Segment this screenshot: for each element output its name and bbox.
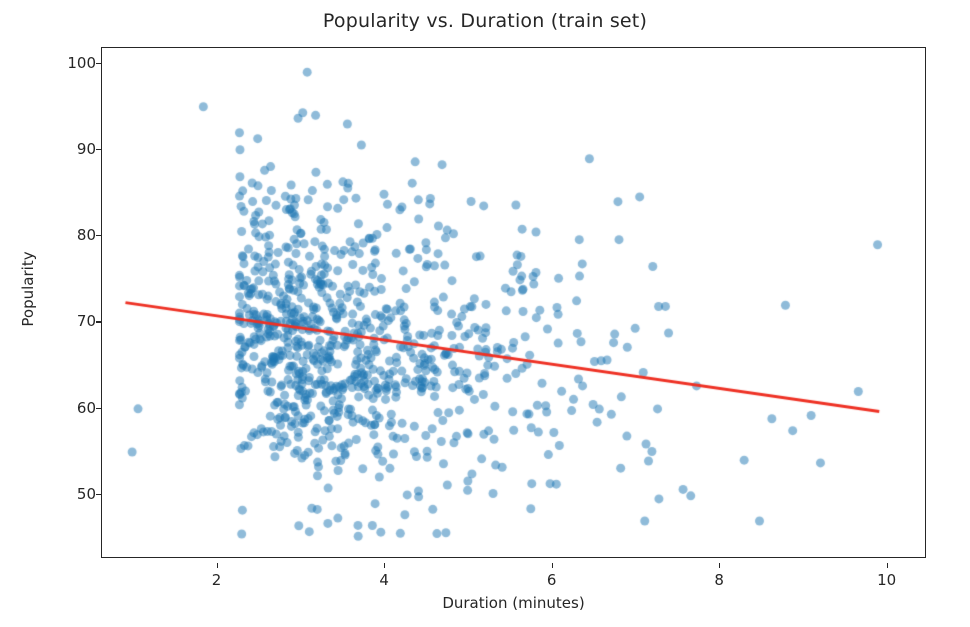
chart-title: Popularity vs. Duration (train set)	[0, 10, 970, 32]
plot-area	[101, 47, 926, 558]
y-tick-label: 100	[54, 54, 96, 72]
figure: Popularity vs. Duration (train set) Popu…	[0, 0, 970, 627]
y-axis-label: Popularity	[19, 209, 37, 369]
y-tick-label: 60	[54, 399, 96, 417]
x-axis-label: Duration (minutes)	[101, 594, 926, 612]
scatter-canvas	[102, 48, 926, 558]
x-axis-ticks: 246810	[0, 563, 970, 593]
x-tick-mark	[887, 563, 888, 568]
x-tick-label: 8	[689, 571, 749, 589]
y-tick-label: 80	[54, 226, 96, 244]
x-tick-label: 6	[522, 571, 582, 589]
y-tick-label: 50	[54, 485, 96, 503]
x-tick-mark	[552, 563, 553, 568]
x-tick-label: 10	[857, 571, 917, 589]
y-axis-ticks: 5060708090100	[49, 0, 96, 627]
y-tick-label: 90	[54, 140, 96, 158]
y-tick-label: 70	[54, 312, 96, 330]
x-tick-mark	[384, 563, 385, 568]
x-tick-mark	[719, 563, 720, 568]
x-tick-mark	[217, 563, 218, 568]
x-tick-label: 4	[354, 571, 414, 589]
x-tick-label: 2	[187, 571, 247, 589]
